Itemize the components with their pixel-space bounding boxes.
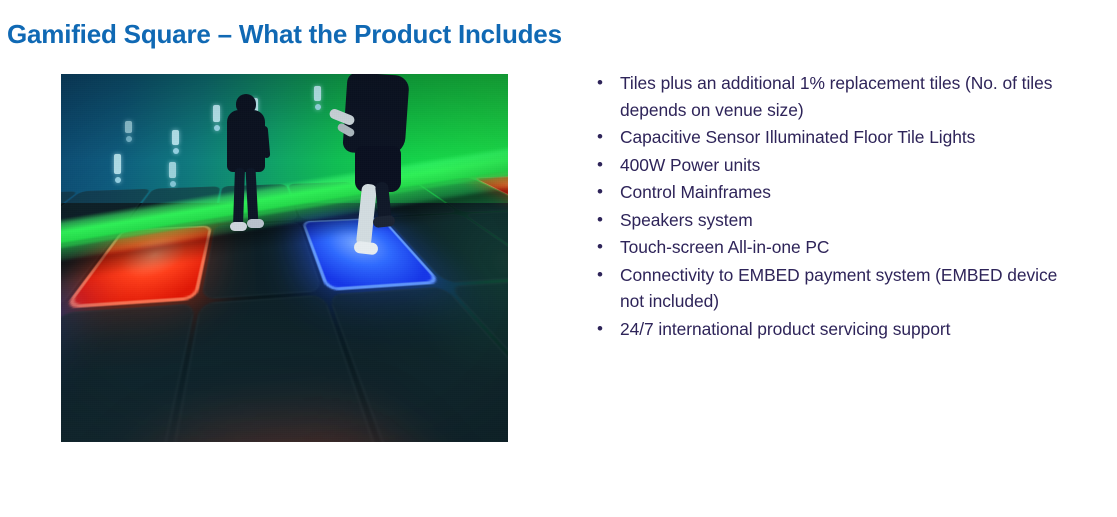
person-silhouette-right — [329, 74, 419, 274]
list-item: •Speakers system — [594, 207, 1072, 234]
person-shoe — [230, 222, 247, 231]
list-item-label: Tiles plus an additional 1% replacement … — [620, 70, 1072, 123]
person-shoe — [372, 215, 395, 228]
list-item-label: Speakers system — [620, 207, 1072, 234]
product-includes-list: •Tiles plus an additional 1% replacement… — [594, 70, 1072, 343]
list-item: •Touch-screen All-in-one PC — [594, 234, 1072, 261]
person-shoe — [247, 219, 264, 228]
person-shoe — [353, 241, 378, 256]
list-item: •Tiles plus an additional 1% replacement… — [594, 70, 1072, 123]
product-photo — [61, 74, 508, 442]
bullet-marker-icon: • — [594, 152, 620, 179]
list-item-label: Capacitive Sensor Illuminated Floor Tile… — [620, 124, 1072, 151]
person-arm — [261, 126, 271, 158]
floor-tile — [61, 303, 194, 442]
list-item: •Capacitive Sensor Illuminated Floor Til… — [594, 124, 1072, 151]
list-item: •24/7 international product servicing su… — [594, 316, 1072, 343]
list-item-label: Connectivity to EMBED payment system (EM… — [620, 262, 1072, 315]
list-item: •Connectivity to EMBED payment system (E… — [594, 262, 1072, 315]
list-item-label: Control Mainframes — [620, 179, 1072, 206]
person-torso — [227, 110, 265, 172]
bullet-marker-icon: • — [594, 234, 620, 261]
photo-canvas — [61, 74, 508, 442]
person-leg — [245, 168, 258, 226]
list-item-label: Touch-screen All-in-one PC — [620, 234, 1072, 261]
bullet-marker-icon: • — [594, 124, 620, 151]
list-item-label: 24/7 international product servicing sup… — [620, 316, 1072, 343]
bullet-marker-icon: • — [594, 316, 620, 343]
list-item: •Control Mainframes — [594, 179, 1072, 206]
bullet-marker-icon: • — [594, 70, 620, 97]
person-leg — [356, 183, 377, 246]
bullet-marker-icon: • — [594, 207, 620, 234]
person-silhouette-left — [221, 92, 273, 242]
bullet-marker-icon: • — [594, 262, 620, 289]
list-item-label: 400W Power units — [620, 152, 1072, 179]
page-title: Gamified Square – What the Product Inclu… — [7, 17, 1007, 53]
person-leg — [233, 168, 245, 226]
list-item: •400W Power units — [594, 152, 1072, 179]
bullet-marker-icon: • — [594, 179, 620, 206]
